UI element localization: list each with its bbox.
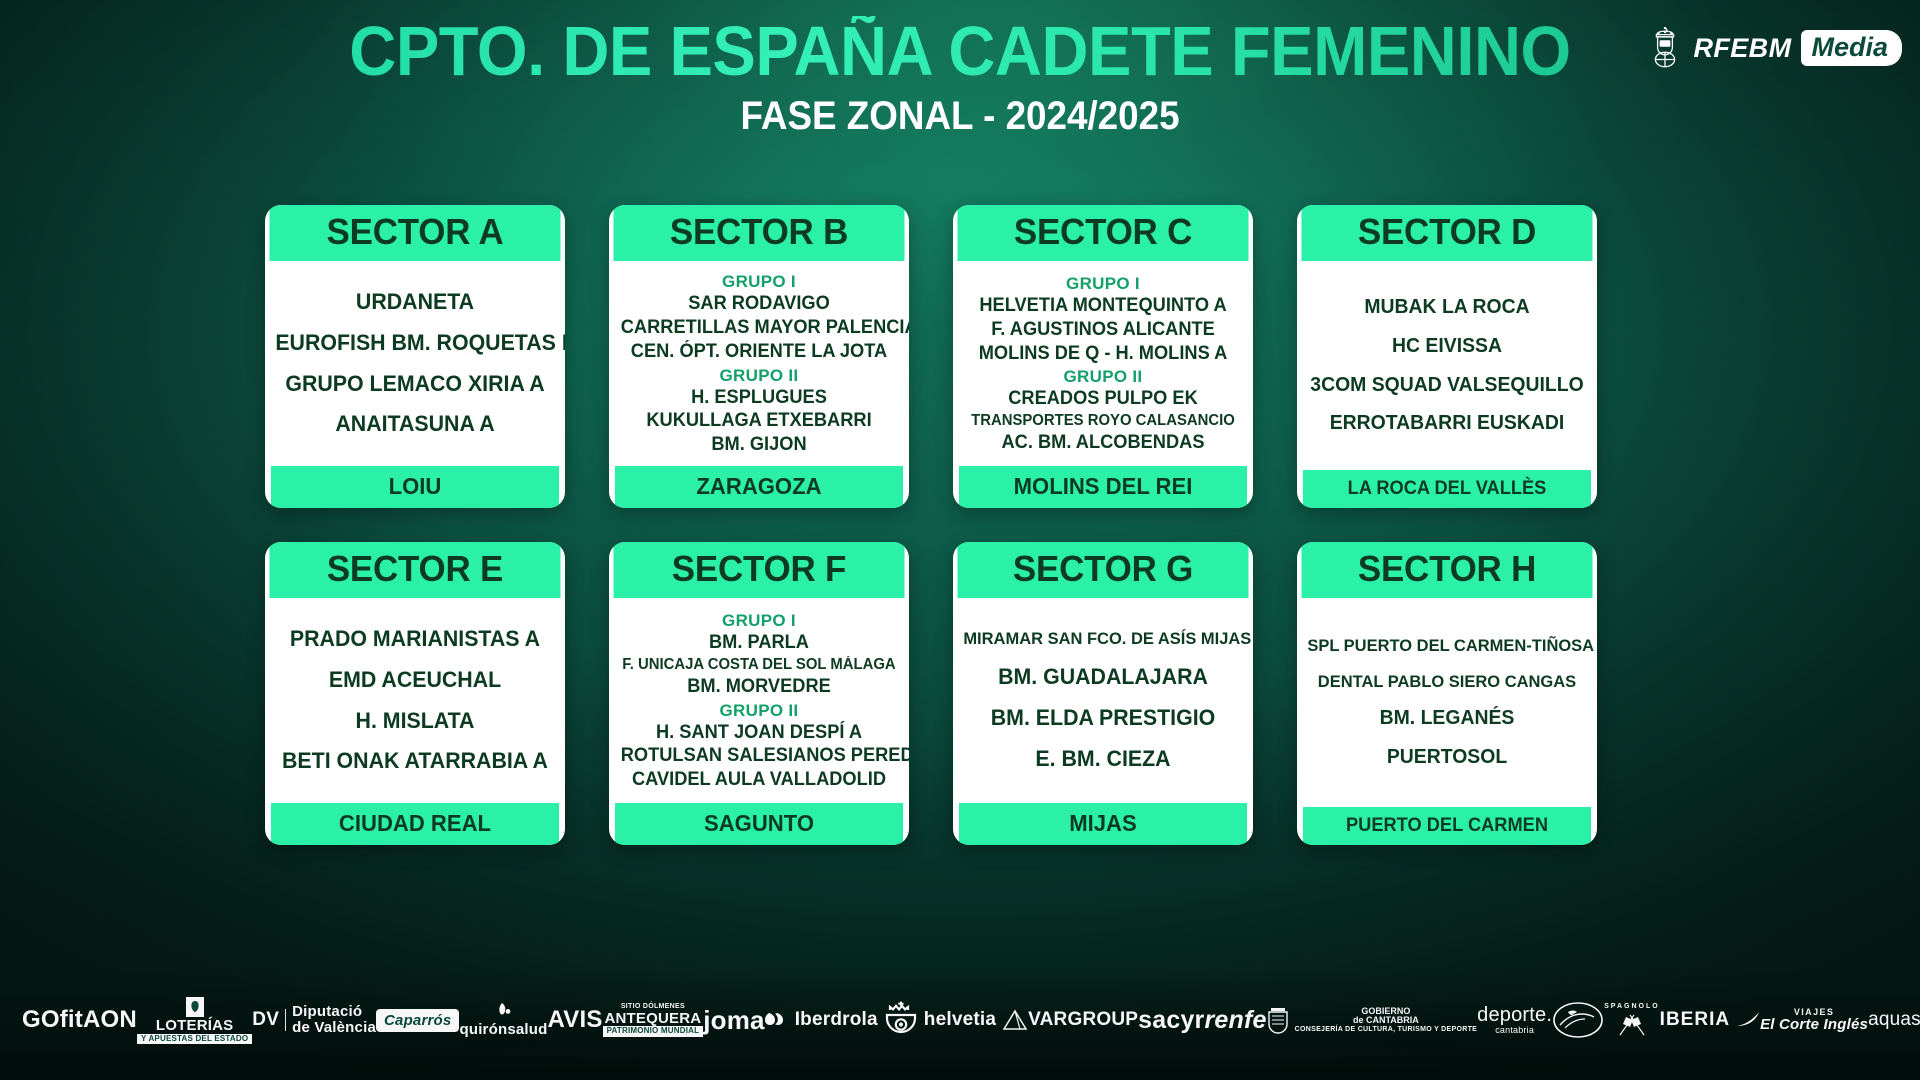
team-name: BM. LEGANÉS xyxy=(1307,708,1586,729)
sponsor-label: quirónsalud xyxy=(459,1022,547,1038)
sponsor-vargroup: VARGROUP xyxy=(1028,992,1138,1048)
sponsor-caparros: Caparrós xyxy=(376,992,459,1048)
correos-crown-horn-icon xyxy=(878,997,924,1043)
sector-teams: PRADO MARIANISTAS A EMD ACEUCHAL H. MISL… xyxy=(265,598,565,803)
team-name: PRADO MARIANISTAS A xyxy=(275,628,554,651)
sponsor-spagnolo: SPAGNOLO xyxy=(1604,992,1660,1048)
sponsor-label: helvetia xyxy=(924,1009,996,1031)
dv-monogram: DV xyxy=(252,1009,279,1031)
sponsor-deporte-cantabria: deporte. cantabria xyxy=(1477,992,1552,1048)
team-name: URDANETA xyxy=(275,291,554,314)
sponsor-bar: GOfit AON LOTERÍAS Y APUESTAS DEL ESTADO… xyxy=(0,968,1920,1080)
rfebm-wordmark: RFEBM xyxy=(1693,33,1791,64)
team-name: CAVIDEL AULA VALLADOLID xyxy=(621,770,897,790)
team-name: ANAITASUNA A xyxy=(275,413,554,436)
sponsor-avis: AVIS xyxy=(548,992,603,1048)
sector-card-f: SECTOR F GRUPO I BM. PARLA F. UNICAJA CO… xyxy=(609,542,909,845)
sponsor-label: Diputació xyxy=(292,1004,362,1020)
sector-teams: GRUPO I BM. PARLA F. UNICAJA COSTA DEL S… xyxy=(609,598,909,803)
sector-title: SECTOR G xyxy=(958,542,1249,598)
sponsor-label: SPAGNOLO xyxy=(1604,1003,1660,1010)
sector-card-d: SECTOR D MUBAK LA ROCA HC EIVISSA 3COM S… xyxy=(1297,205,1597,508)
sponsor-renfe: renfe xyxy=(1205,992,1267,1048)
sponsor-sublabel-2: CONSEJERÍA DE CULTURA, TURISMO Y DEPORTE xyxy=(1295,1026,1477,1033)
sponsor-gofit: GOfit xyxy=(22,992,83,1048)
sponsor-aon: AON xyxy=(83,992,137,1048)
sectors-grid: SECTOR A URDANETA EUROFISH BM. ROQUETAS … xyxy=(265,205,1665,845)
sponsor-label: AVIS xyxy=(548,1006,603,1034)
group-label: GRUPO II xyxy=(615,702,903,719)
sponsor-sublabel: de CANTABRIA xyxy=(1353,1016,1419,1025)
sponsor-label: LOTERÍAS xyxy=(156,1018,233,1034)
sector-card-b: SECTOR B GRUPO I SAR RODAVIGO CARRETILLA… xyxy=(609,205,909,508)
team-name: BM. GIJON xyxy=(621,435,897,455)
sponsor-antequera: SITIO DÓLMENES ANTEQUERA PATRIMONIO MUND… xyxy=(603,992,704,1048)
loterias-mark-icon xyxy=(185,996,205,1018)
sector-venue: PUERTO DEL CARMEN xyxy=(1303,807,1591,845)
sponsor-iberia: IBERIA xyxy=(1660,992,1760,1048)
media-wordmark: Media xyxy=(1801,30,1902,66)
team-name: CARRETILLAS MAYOR PALENCIA xyxy=(621,318,897,338)
crossed-flags-icon xyxy=(1614,1011,1650,1037)
team-name: BM. GUADALAJARA xyxy=(963,666,1242,689)
group-label: GRUPO I xyxy=(615,612,903,629)
poster-canvas: CPTO. DE ESPAÑA CADETE FEMENINO FASE ZON… xyxy=(0,0,1920,1080)
sponsor-label: deporte. xyxy=(1477,1005,1552,1026)
team-name: BM. ELDA PRESTIGIO xyxy=(963,707,1242,730)
sector-venue: MIJAS xyxy=(959,803,1247,845)
sponsor-sublabel: de València xyxy=(292,1020,376,1036)
poster-header: CPTO. DE ESPAÑA CADETE FEMENINO FASE ZON… xyxy=(0,0,1920,168)
team-name: CREADOS PULPO EK xyxy=(965,389,1241,409)
sponsor-label: GOfit xyxy=(22,1006,83,1034)
sponsor-label: VARGROUP xyxy=(1028,1009,1138,1031)
sponsor-label: AON xyxy=(83,1006,137,1034)
iberia-wing-icon xyxy=(1736,1011,1760,1029)
sponsor-sacyr: sacyr xyxy=(1138,992,1204,1048)
page-title: CPTO. DE ESPAÑA CADETE FEMENINO xyxy=(67,16,1853,86)
sponsor-viajes-el-corte-ingles: VIAJES El Corte Inglés xyxy=(1760,992,1868,1048)
team-name: F. AGUSTINOS ALICANTE xyxy=(965,320,1241,340)
oval-emblem-icon xyxy=(1552,1001,1604,1039)
team-name: ROTULSAN SALESIANOS PEREDA xyxy=(621,746,897,766)
team-name: H. SANT JOAN DESPÍ A xyxy=(621,723,897,743)
team-name: ERROTABARRI EUSKADI xyxy=(1307,413,1586,434)
group-label: GRUPO II xyxy=(615,367,903,384)
team-name: BM. PARLA xyxy=(621,633,897,653)
group-label: GRUPO I xyxy=(959,275,1247,292)
team-name: HELVETIA MONTEQUINTO A xyxy=(965,296,1241,316)
sector-venue: SAGUNTO xyxy=(615,803,903,845)
sector-teams: SPL PUERTO DEL CARMEN-TIÑOSA DENTAL PABL… xyxy=(1297,598,1597,807)
sector-teams: MUBAK LA ROCA HC EIVISSA 3COM SQUAD VALS… xyxy=(1297,261,1597,470)
sector-title: SECTOR F xyxy=(614,542,905,598)
sponsor-sublabel-2: PATRIMONIO MUNDIAL xyxy=(603,1026,704,1036)
sector-venue: LA ROCA DEL VALLÈS xyxy=(1303,470,1591,508)
sponsor-label: renfe xyxy=(1205,1006,1267,1035)
group-label: GRUPO II xyxy=(959,368,1247,385)
sponsor-label: sacyr xyxy=(1138,1006,1204,1035)
team-name: H. ESPLUGUES xyxy=(621,388,897,408)
rfebm-media-logo: RFEBM Media xyxy=(1647,24,1902,72)
sponsor-iberdrola: Iberdrola xyxy=(765,992,878,1048)
sponsor-loterias: LOTERÍAS Y APUESTAS DEL ESTADO xyxy=(137,992,252,1048)
sector-title: SECTOR B xyxy=(614,205,905,261)
sector-venue: CIUDAD REAL xyxy=(271,803,559,845)
team-name: SAR RODAVIGO xyxy=(621,294,897,314)
team-name: KUKULLAGA ETXEBARRI xyxy=(621,411,897,431)
sector-teams: GRUPO I SAR RODAVIGO CARRETILLAS MAYOR P… xyxy=(609,261,909,466)
sponsor-label: IBERIA xyxy=(1660,1009,1730,1031)
sector-title: SECTOR D xyxy=(1302,205,1593,261)
sponsor-gobierno-de-cantabria: GOBIERNO de CANTABRIA CONSEJERÍA DE CULT… xyxy=(1267,992,1477,1048)
royal-crest-icon xyxy=(1647,26,1683,70)
sponsor-sublabel: El Corte Inglés xyxy=(1760,1017,1868,1033)
team-name: EMD ACEUCHAL xyxy=(275,669,554,692)
sector-teams: MIRAMAR SAN FCO. DE ASÍS MIJAS BM. GUADA… xyxy=(953,598,1253,803)
team-name: SPL PUERTO DEL CARMEN-TIÑOSA xyxy=(1307,637,1586,655)
group-label: GRUPO I xyxy=(615,273,903,290)
sector-teams: URDANETA EUROFISH BM. ROQUETAS B GRUPO L… xyxy=(265,261,565,466)
sector-title: SECTOR E xyxy=(270,542,561,598)
sector-venue: ZARAGOZA xyxy=(615,466,903,508)
sponsor-aquaservice: aquaservice xyxy=(1868,992,1920,1048)
team-name: HC EIVISSA xyxy=(1307,336,1586,357)
sponsor-quironsalud: quirónsalud xyxy=(459,992,547,1048)
team-name: PUERTOSOL xyxy=(1307,747,1586,768)
sector-title: SECTOR H xyxy=(1302,542,1593,598)
sector-teams: GRUPO I HELVETIA MONTEQUINTO A F. AGUSTI… xyxy=(953,261,1253,466)
sector-title: SECTOR C xyxy=(958,205,1249,261)
team-name: GRUPO LEMACO XIRIA A xyxy=(275,373,554,396)
sponsor-label: joma xyxy=(703,1005,764,1036)
team-name: BETI ONAK ATARRABIA A xyxy=(275,750,554,773)
quironsalud-leaf-icon xyxy=(493,1002,513,1022)
page-subtitle: FASE ZONAL - 2024/2025 xyxy=(77,96,1843,136)
sector-card-h: SECTOR H SPL PUERTO DEL CARMEN-TIÑOSA DE… xyxy=(1297,542,1597,845)
team-name: CEN. ÓPT. ORIENTE LA JOTA xyxy=(621,342,897,362)
team-name: EUROFISH BM. ROQUETAS B xyxy=(275,332,554,355)
team-name: H. MISLATA xyxy=(275,710,554,733)
sector-card-a: SECTOR A URDANETA EUROFISH BM. ROQUETAS … xyxy=(265,205,565,508)
sector-card-g: SECTOR G MIRAMAR SAN FCO. DE ASÍS MIJAS … xyxy=(953,542,1253,845)
sponsor-oval-emblem xyxy=(1552,992,1604,1048)
sponsor-correos xyxy=(878,992,924,1048)
iberdrola-drop-icon xyxy=(765,1010,789,1030)
sponsor-diputacio-de-valencia: DV Diputació de València xyxy=(252,992,376,1048)
sponsor-sublabel: Y APUESTAS DEL ESTADO xyxy=(137,1034,252,1044)
sector-card-e: SECTOR E PRADO MARIANISTAS A EMD ACEUCHA… xyxy=(265,542,565,845)
team-name: MIRAMAR SAN FCO. DE ASÍS MIJAS xyxy=(963,630,1242,648)
sponsor-helvetia: helvetia xyxy=(924,992,1028,1048)
team-name: TRANSPORTES ROYO CALASANCIO xyxy=(965,413,1241,429)
sponsor-label: Iberdrola xyxy=(795,1009,878,1031)
team-name: 3COM SQUAD VALSEQUILLO xyxy=(1307,375,1586,396)
team-name: AC. BM. ALCOBENDAS xyxy=(965,433,1241,453)
sector-title: SECTOR A xyxy=(270,205,561,261)
sponsor-sublabel: cantabria xyxy=(1495,1026,1534,1035)
sector-venue: MOLINS DEL REI xyxy=(959,466,1247,508)
team-name: E. BM. CIEZA xyxy=(963,748,1242,771)
divider xyxy=(285,1009,286,1031)
sector-venue: LOIU xyxy=(271,466,559,508)
sponsor-sublabel: ANTEQUERA xyxy=(604,1011,701,1027)
helvetia-triangle-icon xyxy=(1002,1009,1028,1031)
sponsor-label: Caparrós xyxy=(376,1009,459,1032)
team-name: F. UNICAJA COSTA DEL SOL MÁLAGA xyxy=(621,657,897,673)
team-name: MUBAK LA ROCA xyxy=(1307,297,1586,318)
sponsor-joma: joma xyxy=(703,992,764,1048)
sponsor-label: aquaservice xyxy=(1868,1009,1920,1031)
team-name: DENTAL PABLO SIERO CANGAS xyxy=(1307,673,1586,691)
cantabria-shield-icon xyxy=(1267,1006,1289,1034)
team-name: MOLINS DE Q - H. MOLINS A xyxy=(965,344,1241,364)
team-name: BM. MORVEDRE xyxy=(621,677,897,697)
sector-card-c: SECTOR C GRUPO I HELVETIA MONTEQUINTO A … xyxy=(953,205,1253,508)
